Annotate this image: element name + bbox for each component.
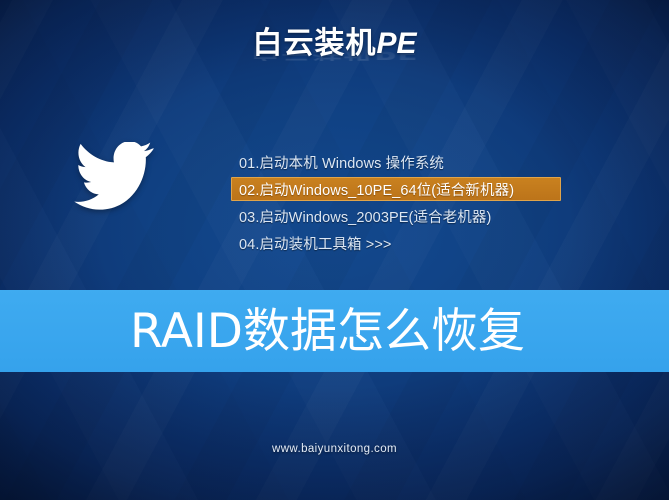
boot-menu[interactable]: 01.启动本机 Windows 操作系统 02.启动Windows_10PE_6… — [231, 150, 561, 258]
headline-banner-title: RAID数据怎么恢复 — [0, 308, 525, 355]
boot-menu-item-04[interactable]: 04.启动装机工具箱 >>> — [231, 231, 561, 255]
boot-screen: 白云装机PE 白云装机PE 01.启动本机 Windows 操作系统 02.启动… — [0, 0, 669, 500]
bird-icon — [64, 142, 160, 212]
boot-menu-item-02[interactable]: 02.启动Windows_10PE_64位(适合新机器) — [231, 177, 561, 201]
footer-url[interactable]: www.baiyunxitong.com — [0, 443, 669, 455]
boot-menu-item-01[interactable]: 01.启动本机 Windows 操作系统 — [231, 150, 561, 174]
boot-menu-item-03[interactable]: 03.启动Windows_2003PE(适合老机器) — [231, 204, 561, 228]
headline-banner: RAID数据怎么恢复 — [0, 290, 669, 372]
